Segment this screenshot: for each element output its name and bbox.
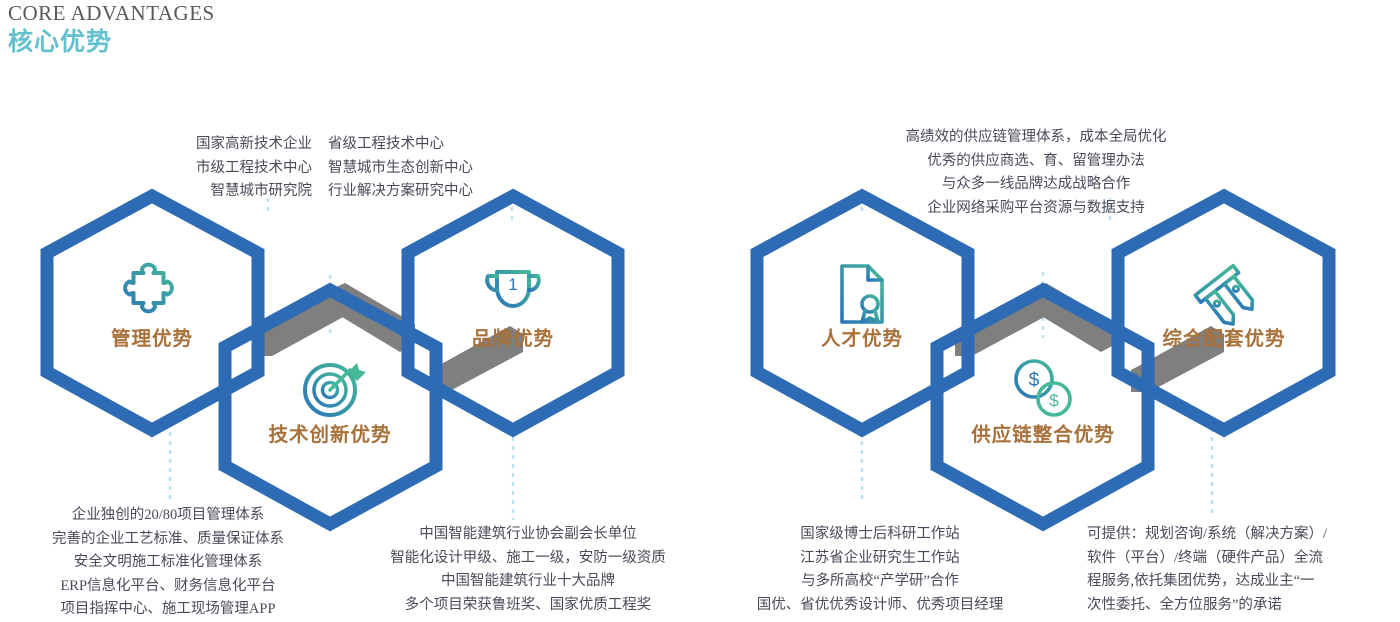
callout-line: 中国智能建筑行业协会副会长单位 xyxy=(368,523,688,547)
callout-line: 国优、省优优秀设计师、优秀项目经理 xyxy=(706,594,1054,618)
callout-line: 完善的企业工艺标准、质量保证体系 xyxy=(18,528,318,552)
trophy-icon: 1 xyxy=(487,272,539,317)
callout-management-column-right: 省级工程技术中心 智慧城市生态创新中心 行业解决方案研究中心 xyxy=(328,133,473,204)
callout-management-column-left: 国家高新技术企业 市级工程技术中心 智慧城市研究院 xyxy=(196,133,312,204)
hex-label-brand: 品牌优势 xyxy=(472,322,554,351)
callout-line: 高绩效的供应链管理体系，成本全局优化 xyxy=(880,126,1192,150)
callout-line: 智慧城市生态创新中心 xyxy=(328,157,473,181)
svg-text:$: $ xyxy=(1049,391,1059,410)
svg-text:1: 1 xyxy=(508,275,517,294)
callout-tech-bottom: 企业独创的20/80项目管理体系 完善的企业工艺标准、质量保证体系 安全文明施工… xyxy=(18,504,318,622)
callout-management: 国家高新技术企业 市级工程技术中心 智慧城市研究院 省级工程技术中心 智慧城市生… xyxy=(196,133,473,204)
callout-brand-bottom: 中国智能建筑行业协会副会长单位 智能化设计甲级、施工一级，安防一级资质 中国智能… xyxy=(368,523,688,617)
callout-line: 优秀的供应商选、育、留管理办法 xyxy=(880,150,1192,174)
callout-line: 智慧城市研究院 xyxy=(196,180,312,204)
hex-label-management: 管理优势 xyxy=(111,322,193,351)
certificate-document-icon xyxy=(842,266,882,322)
callout-line: 江苏省企业研究生工作站 xyxy=(706,547,1054,571)
hex-label-supplychain: 供应链整合优势 xyxy=(971,418,1115,447)
coins-dollar-icon: $ $ xyxy=(1016,361,1070,415)
callout-line: 次性委托、全方位服务”的承诺 xyxy=(1087,594,1387,618)
callout-line: 程服务,依托集团优势，达成业主“一 xyxy=(1087,570,1387,594)
callout-line: 多个项目荣获鲁班奖、国家优质工程奖 xyxy=(368,594,688,618)
hex-label-tech: 技术创新优势 xyxy=(268,418,391,447)
callout-line: 安全文明施工标准化管理体系 xyxy=(18,551,318,575)
callout-supplychain-top: 高绩效的供应链管理体系，成本全局优化 优秀的供应商选、育、留管理办法 与众多一线… xyxy=(880,126,1192,220)
hex-label-talent: 人才优势 xyxy=(821,322,903,351)
callout-line: 企业网络采购平台资源与数据支持 xyxy=(880,197,1192,221)
puzzle-piece-icon xyxy=(125,265,172,312)
callout-line: 智能化设计甲级、施工一级，安防一级资质 xyxy=(368,547,688,571)
callout-line: 市级工程技术中心 xyxy=(196,157,312,181)
callout-line: 中国智能建筑行业十大品牌 xyxy=(368,570,688,594)
callout-talent-bottom: 国家级博士后科研工作站 江苏省企业研究生工作站 与多所高校“产学研”合作 国优、… xyxy=(706,523,1054,617)
callout-line: ERP信息化平台、财务信息化平台 xyxy=(18,575,318,599)
callout-line: 企业独创的20/80项目管理体系 xyxy=(18,504,318,528)
hex-support[interactable] xyxy=(1118,196,1329,430)
callout-line: 国家高新技术企业 xyxy=(196,133,312,157)
callout-line: 软件（平台）/终端（硬件产品）全流 xyxy=(1087,547,1387,571)
callout-line: 与多所高校“产学研”合作 xyxy=(706,570,1054,594)
callout-line: 与众多一线品牌达成战略合作 xyxy=(880,173,1192,197)
callout-line: 行业解决方案研究中心 xyxy=(328,180,473,204)
callout-line: 省级工程技术中心 xyxy=(328,133,473,157)
target-dart-icon xyxy=(305,363,366,415)
svg-text:$: $ xyxy=(1029,370,1040,391)
callout-line: 可提供：规划咨询/系统（解决方案）/ xyxy=(1087,523,1387,547)
dashed-connector-lines xyxy=(170,198,1212,520)
callout-support-bottom: 可提供：规划咨询/系统（解决方案）/ 软件（平台）/终端（硬件产品）全流 程服务… xyxy=(1087,523,1387,617)
callout-line: 国家级博士后科研工作站 xyxy=(706,523,1054,547)
hex-label-support: 综合配套优势 xyxy=(1162,322,1285,351)
